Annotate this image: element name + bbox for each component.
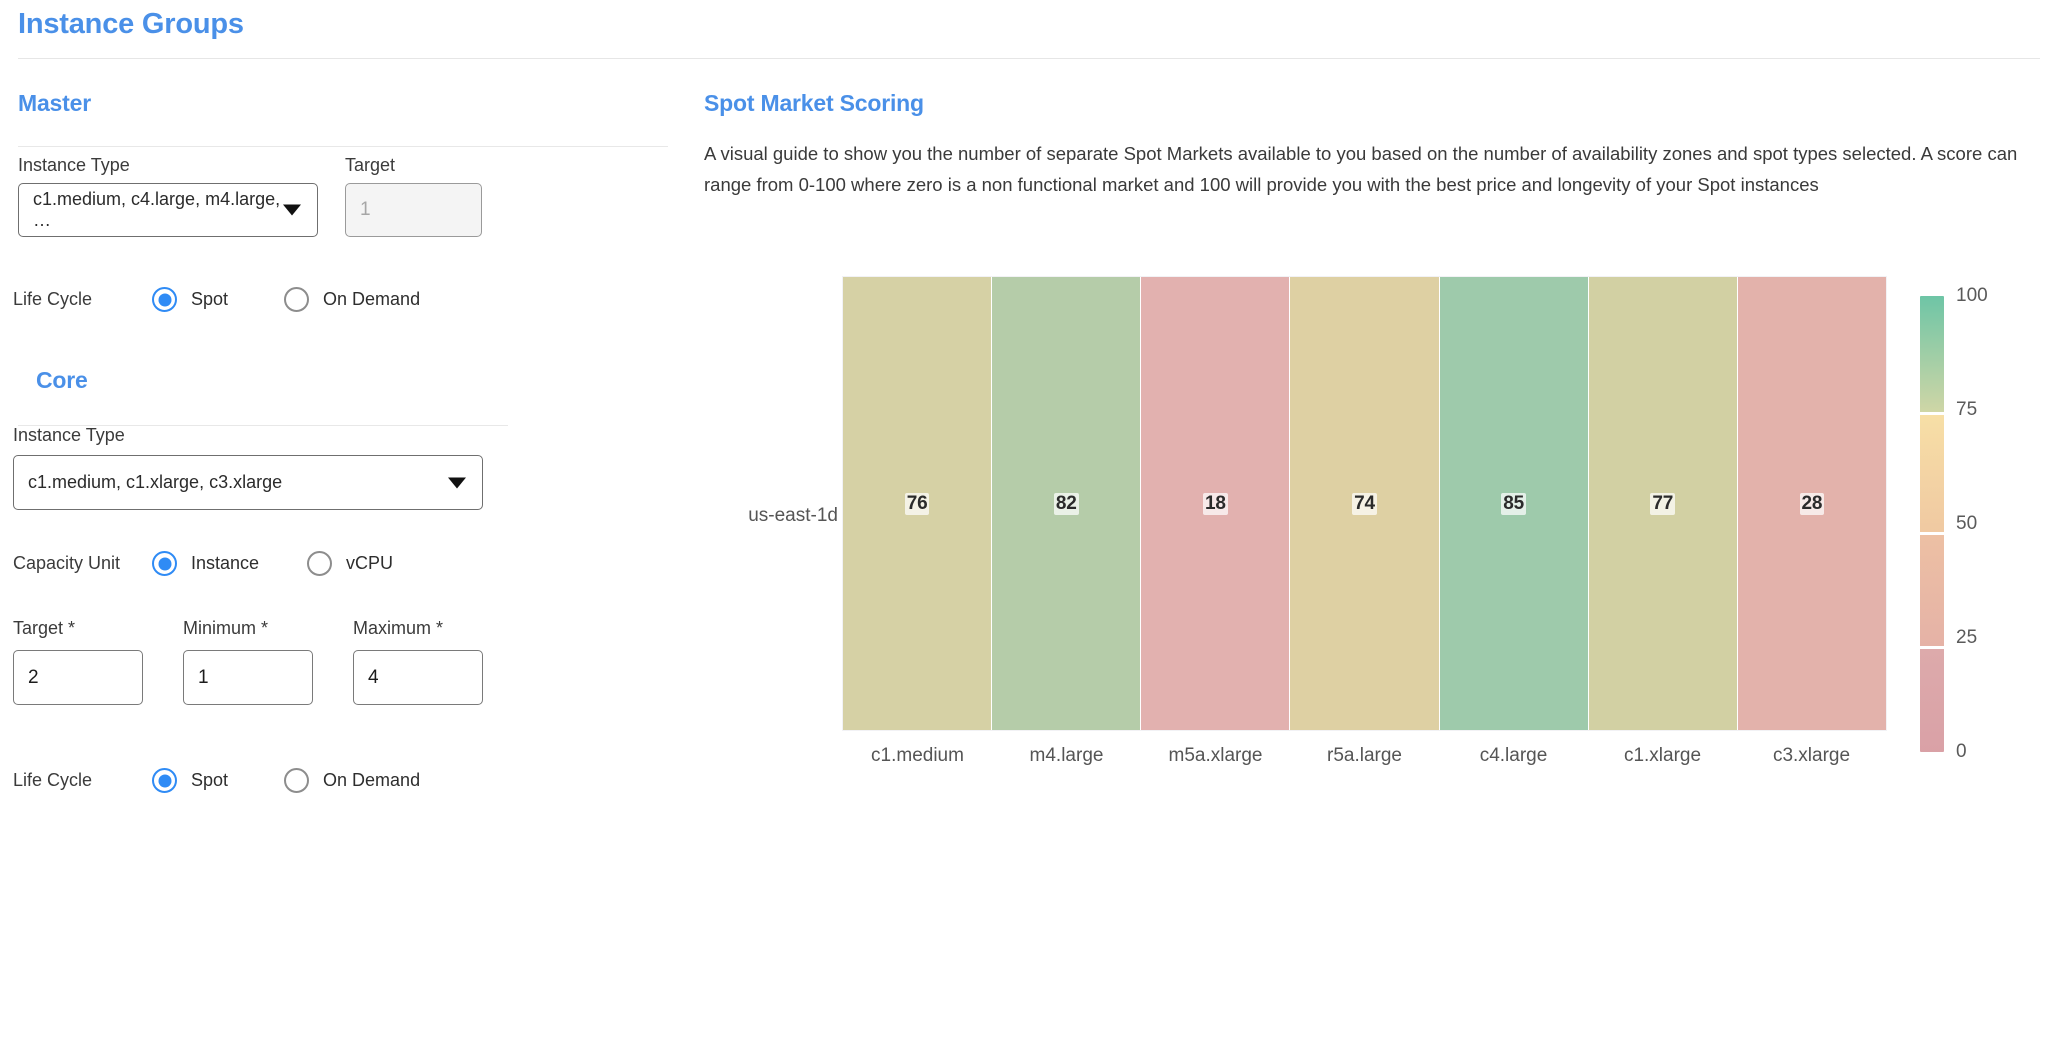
core-capacity-unit-label: Capacity Unit <box>13 553 120 574</box>
heatmap-x-tick-label: m4.large <box>992 745 1141 767</box>
master-life-cycle-spot-label: Spot <box>191 289 228 310</box>
radio-icon-instance[interactable] <box>152 551 177 576</box>
colorbar-tick-label: 25 <box>1956 627 1977 649</box>
colorbar-tick-label: 100 <box>1956 285 1988 307</box>
heatmap-colorbar-ticks: 0255075100 <box>1956 296 2046 752</box>
core-life-cycle-on-demand-label: On Demand <box>323 770 420 791</box>
section-title-master: Master <box>18 90 91 117</box>
core-life-cycle-option-spot[interactable]: Spot <box>152 768 228 793</box>
heatmap-cell-value: 85 <box>1501 493 1526 515</box>
spot-market-scoring-description: A visual guide to show you the number of… <box>704 138 2058 200</box>
core-life-cycle-option-on-demand[interactable]: On Demand <box>284 768 420 793</box>
core-maximum-value: 4 <box>368 667 379 689</box>
heatmap-cell[interactable]: 76 <box>843 277 992 730</box>
radio-icon-spot[interactable] <box>152 768 177 793</box>
heatmap-cell[interactable]: 82 <box>992 277 1141 730</box>
master-life-cycle-label: Life Cycle <box>13 289 92 310</box>
core-minimum-value: 1 <box>198 667 209 689</box>
core-target-label: Target * <box>13 618 75 639</box>
core-target-value: 2 <box>28 667 39 689</box>
heatmap-cell[interactable]: 74 <box>1290 277 1439 730</box>
chevron-down-icon <box>448 477 466 488</box>
core-maximum-label: Maximum * <box>353 618 443 639</box>
master-life-cycle-radio-group: Spot On Demand <box>152 287 420 312</box>
core-capacity-unit-option-instance[interactable]: Instance <box>152 551 259 576</box>
colorbar-segment <box>1920 415 1944 531</box>
core-capacity-unit-instance-label: Instance <box>191 553 259 574</box>
heatmap-plot-area: 76821874857728 <box>843 277 1886 730</box>
spot-market-heatmap: us-east-1d 76821874857728 c1.mediumm4.la… <box>700 200 2058 820</box>
colorbar-tick-label: 0 <box>1956 741 1967 763</box>
master-instance-type-label: Instance Type <box>18 155 130 176</box>
core-capacity-unit-option-vcpu[interactable]: vCPU <box>307 551 393 576</box>
core-capacity-unit-radio-group: Instance vCPU <box>152 551 393 576</box>
heatmap-cell-value: 77 <box>1650 493 1675 515</box>
heatmap-cell[interactable]: 85 <box>1440 277 1589 730</box>
master-life-cycle-option-spot[interactable]: Spot <box>152 287 228 312</box>
core-maximum-input[interactable]: 4 <box>353 650 483 705</box>
core-instance-type-select[interactable]: c1.medium, c1.xlarge, c3.xlarge <box>13 455 483 510</box>
heatmap-x-tick-label: c4.large <box>1439 745 1588 767</box>
core-life-cycle-label: Life Cycle <box>13 770 92 791</box>
page-title: Instance Groups <box>18 8 244 41</box>
heatmap-cell-value: 28 <box>1800 493 1825 515</box>
heatmap-cell[interactable]: 77 <box>1589 277 1738 730</box>
core-minimum-input[interactable]: 1 <box>183 650 313 705</box>
radio-icon-on-demand[interactable] <box>284 768 309 793</box>
master-instance-type-value: c1.medium, c4.large, m4.large, … <box>33 189 303 231</box>
core-target-input[interactable]: 2 <box>13 650 143 705</box>
chevron-down-icon <box>283 205 301 216</box>
radio-icon-on-demand[interactable] <box>284 287 309 312</box>
colorbar-segment <box>1920 649 1944 752</box>
core-capacity-unit-vcpu-label: vCPU <box>346 553 393 574</box>
master-target-label: Target <box>345 155 395 176</box>
heatmap-x-tick-label: c1.xlarge <box>1588 745 1737 767</box>
heatmap-cell[interactable]: 28 <box>1738 277 1886 730</box>
core-minimum-label: Minimum * <box>183 618 268 639</box>
core-life-cycle-spot-label: Spot <box>191 770 228 791</box>
master-target-input[interactable]: 1 <box>345 183 482 237</box>
master-instance-type-select[interactable]: c1.medium, c4.large, m4.large, … <box>18 183 318 237</box>
master-target-value: 1 <box>360 199 371 221</box>
title-divider <box>18 58 2040 59</box>
heatmap-cell-value: 74 <box>1352 493 1377 515</box>
heatmap-x-tick-label: m5a.xlarge <box>1141 745 1290 767</box>
radio-icon-vcpu[interactable] <box>307 551 332 576</box>
heatmap-colorbar <box>1920 296 1944 752</box>
core-life-cycle-radio-group: Spot On Demand <box>152 768 420 793</box>
core-instance-type-value: c1.medium, c1.xlarge, c3.xlarge <box>28 472 282 493</box>
spot-market-scoring-title: Spot Market Scoring <box>704 90 924 117</box>
colorbar-tick-label: 75 <box>1956 399 1977 421</box>
colorbar-segment <box>1920 296 1944 412</box>
master-section-divider <box>18 146 668 147</box>
heatmap-cell-value: 82 <box>1054 493 1079 515</box>
heatmap-cell-value: 76 <box>905 493 930 515</box>
radio-icon-spot[interactable] <box>152 287 177 312</box>
heatmap-x-tick-label: c1.medium <box>843 745 992 767</box>
instance-groups-page: Instance Groups Master Instance Type c1.… <box>0 0 2058 1058</box>
heatmap-cell[interactable]: 18 <box>1141 277 1290 730</box>
heatmap-x-tick-label: c3.xlarge <box>1737 745 1886 767</box>
section-title-core: Core <box>36 367 88 394</box>
colorbar-tick-label: 50 <box>1956 513 1977 535</box>
colorbar-segment <box>1920 535 1944 647</box>
heatmap-x-tick-label: r5a.large <box>1290 745 1439 767</box>
heatmap-cell-value: 18 <box>1203 493 1228 515</box>
heatmap-y-tick-label: us-east-1d <box>548 505 838 527</box>
master-life-cycle-option-on-demand[interactable]: On Demand <box>284 287 420 312</box>
master-life-cycle-on-demand-label: On Demand <box>323 289 420 310</box>
heatmap-x-axis-labels: c1.mediumm4.largem5a.xlarger5a.largec4.l… <box>843 745 1886 767</box>
core-instance-type-label: Instance Type <box>13 425 125 446</box>
